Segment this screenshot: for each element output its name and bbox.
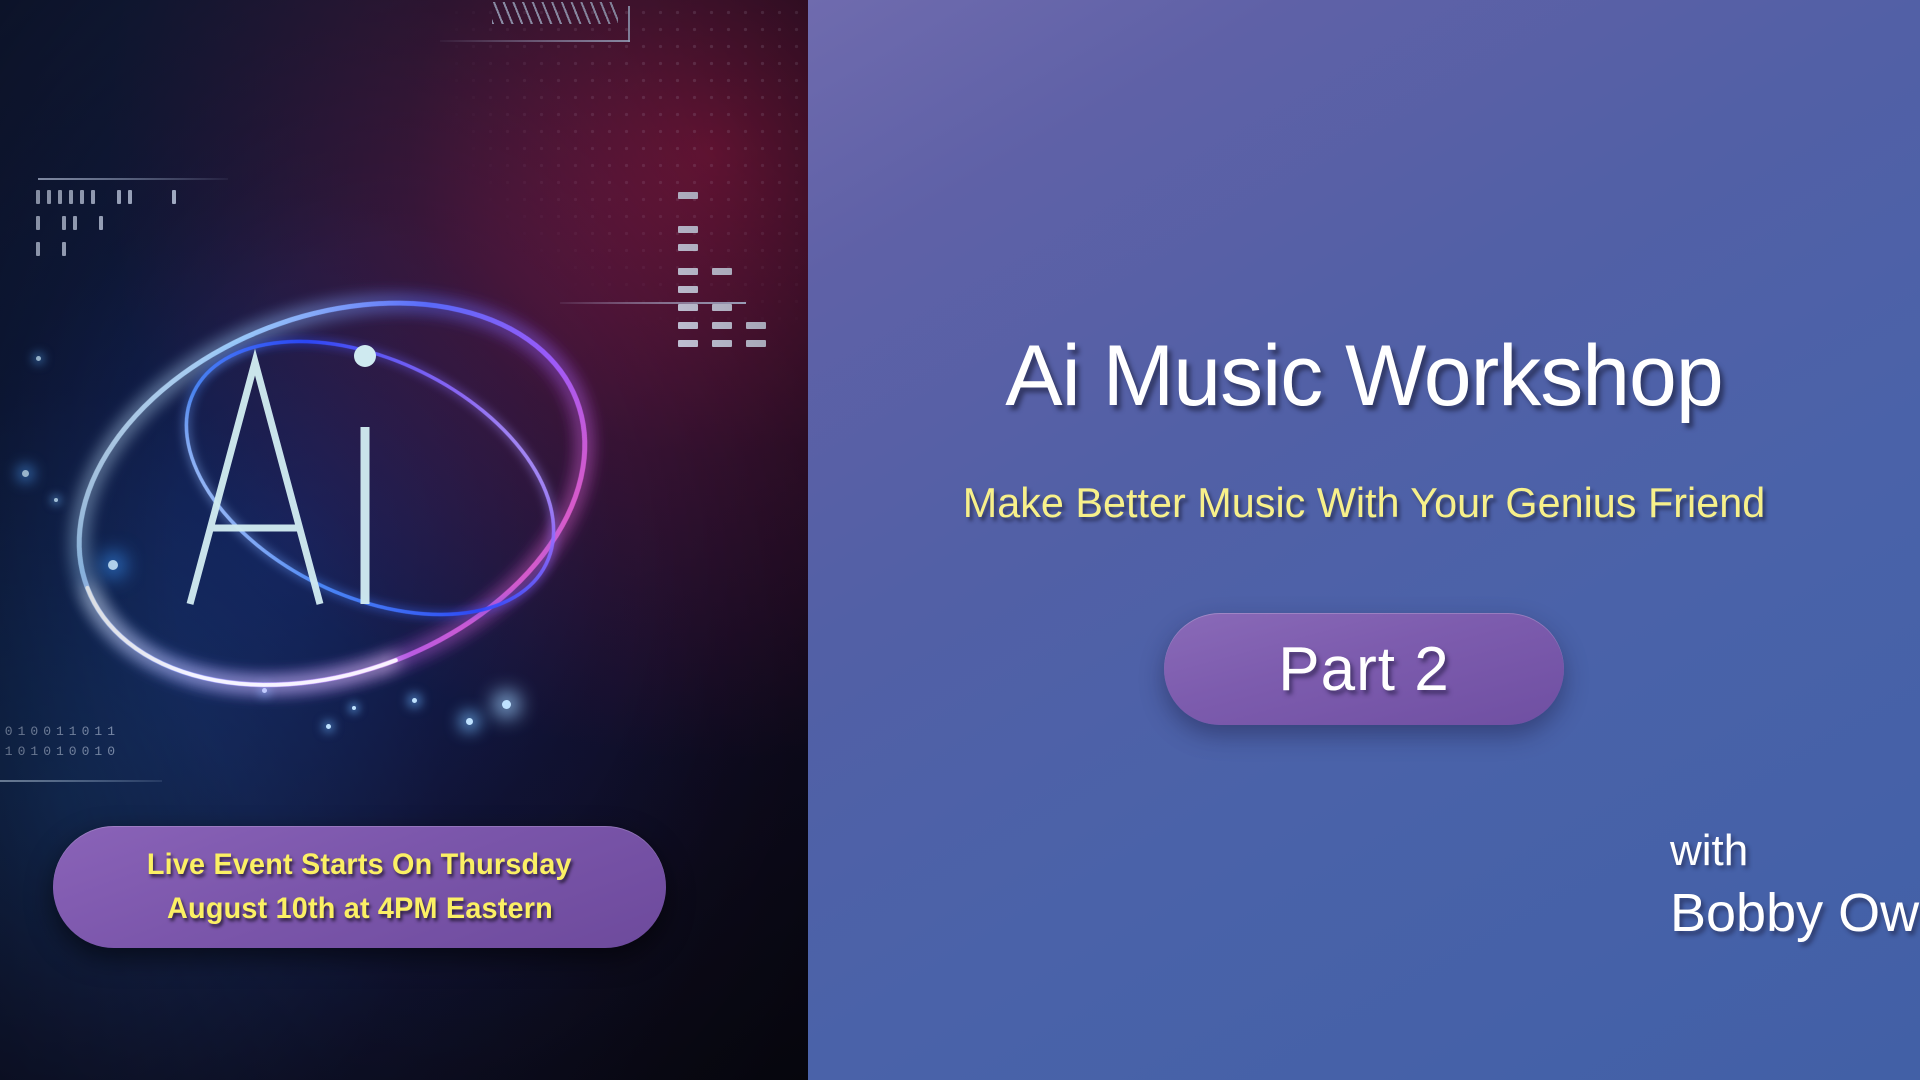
presenter-name: Bobby Owsinski <box>1670 880 1920 946</box>
presenter-with-label: with <box>1670 822 1920 880</box>
slide-canvas: 0010011011 1101010010 Live Event Starts … <box>0 0 1920 1080</box>
workshop-title: Ai Music Workshop <box>1005 330 1722 422</box>
part-badge-label: Part 2 <box>1278 634 1449 705</box>
workshop-subtitle: Make Better Music With Your Genius Frien… <box>963 477 1765 529</box>
event-banner-line-2: August 10th at 4PM Eastern <box>167 887 553 931</box>
part-badge: Part 2 <box>1164 613 1564 725</box>
presenter-block: with Bobby Owsinski <box>1670 822 1920 946</box>
event-banner-line-1: Live Event Starts On Thursday <box>147 843 572 887</box>
right-content-panel: Ai Music Workshop Make Better Music With… <box>808 0 1920 1080</box>
left-visual-panel: 0010011011 1101010010 Live Event Starts … <box>0 0 808 1080</box>
event-time-banner: Live Event Starts On Thursday August 10t… <box>53 826 666 948</box>
